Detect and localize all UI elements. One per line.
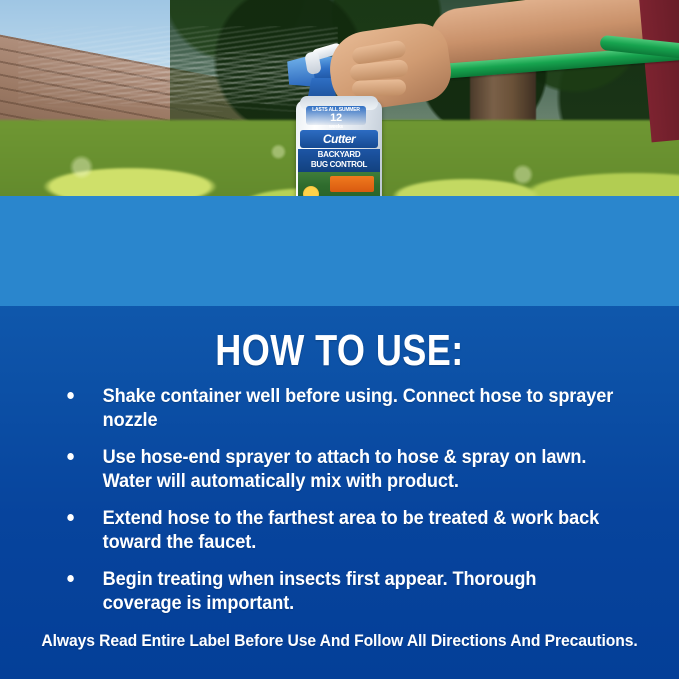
list-item-text: Begin treating when insects first appear… (103, 568, 537, 614)
list-item: Use hose-end sprayer to attach to hose &… (58, 445, 616, 493)
list-item: Shake container well before using. Conne… (58, 384, 616, 432)
list-item-text: Extend hose to the farthest area to be t… (103, 507, 599, 553)
bullet-icon (67, 453, 74, 460)
page-title: HOW TO USE: (61, 326, 618, 376)
bottle-product-name-line2: BUG CONTROL (298, 160, 380, 170)
finger (352, 79, 407, 97)
legal-footer-text: Always Read Entire Label Before Use And … (17, 632, 662, 651)
bottle-label-orange-band (330, 176, 374, 192)
bullet-icon (67, 575, 74, 582)
list-item: Begin treating when insects first appear… (58, 567, 616, 615)
curved-divider (0, 196, 679, 306)
bottle-product-name: BACKYARD BUG CONTROL (298, 149, 380, 172)
instructions-panel: HOW TO USE: Shake container well before … (0, 300, 679, 679)
bullet-icon (67, 514, 74, 521)
bullet-icon (67, 392, 74, 399)
bottle-duration-badge-text: LASTS ALL SUMMER 12 weeks (308, 107, 364, 124)
how-to-use-card: LASTS ALL SUMMER 12 weeks Cutter BACKYAR… (0, 0, 679, 679)
list-item-text: Use hose-end sprayer to attach to hose &… (103, 446, 587, 492)
bottle-product-name-line1: BACKYARD (298, 150, 380, 160)
badge-line-2: 12 (308, 113, 364, 124)
divider-blue-arc (0, 196, 679, 306)
bottle-brand-name: Cutter (300, 130, 378, 148)
list-item: Extend hose to the farthest area to be t… (58, 506, 616, 554)
steps-list: Shake container well before using. Conne… (58, 384, 658, 628)
list-item-text: Shake container well before using. Conne… (103, 385, 614, 431)
